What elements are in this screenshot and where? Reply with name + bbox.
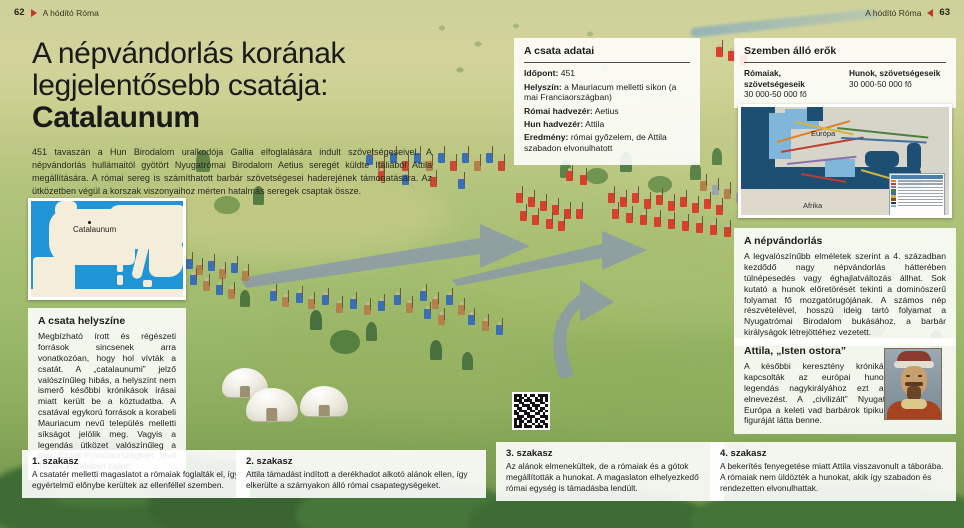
map-marker-catalaunum — [88, 221, 91, 224]
location-heading: A csata helyszíne — [38, 315, 176, 328]
phase-2: 2. szakasz Attila támadást indított a de… — [236, 450, 486, 498]
battle-data-panel: A csata adatai Időpont: 451 Helyszín: a … — [514, 38, 700, 165]
tree — [310, 310, 322, 330]
forces-side-value: 30 000-50 000 fő — [849, 79, 946, 89]
tree — [648, 176, 672, 193]
battle-data-value: 451 — [561, 68, 575, 78]
forces-side-hun: Hunok, szövetségeseik 30 000-50 000 fő — [849, 68, 946, 99]
phase-heading: 1. szakasz — [32, 456, 241, 467]
lede-paragraph: 451 tavaszán a Hun Birodalom uralkodója … — [32, 146, 432, 197]
map-baltic — [807, 107, 823, 121]
battle-data-value: Attila — [585, 119, 604, 129]
battle-data-row: Hun hadvezér: Attila — [524, 119, 690, 130]
map-land-africa — [31, 289, 186, 300]
page-number-right: 63 — [939, 7, 950, 18]
map-adriatic — [825, 159, 855, 177]
tree — [430, 340, 442, 360]
phase-1: 1. szakasz A csatatér melletti magaslato… — [22, 450, 250, 498]
page-number-left: 62 — [14, 7, 25, 18]
map-label-europe: Európa — [811, 129, 835, 138]
title-line-1: A népvándorlás korának — [32, 38, 502, 70]
phase-3: 3. szakasz Az alánok elmenekültek, de a … — [496, 442, 724, 501]
page-title: A népvándorlás korának legjelentősebb cs… — [32, 38, 502, 197]
map-caspian — [907, 143, 921, 171]
map-label-africa: Afrika — [803, 201, 822, 210]
catalaunum-inset-map: Catalaunum — [28, 198, 186, 300]
phase-text: Attila támadást indított a derékhadot al… — [246, 469, 477, 491]
runhead-left: 62 A hódító Róma — [14, 7, 99, 18]
chapter-title-left: A hódító Róma — [43, 8, 99, 18]
map-land-sicily — [143, 280, 152, 287]
map-land-balkans — [149, 241, 183, 277]
tree — [214, 196, 240, 214]
portrait-eye — [906, 375, 910, 377]
forces-panel: Szemben álló erők Rómaiak, szövetségesei… — [734, 38, 956, 108]
movement-arrow-curved — [540, 250, 650, 380]
battle-data-row: Időpont: 451 — [524, 68, 690, 79]
battle-data-row: Római hadvezér: Aetius — [524, 106, 690, 117]
map-legend — [889, 173, 945, 217]
map-legend-row — [891, 204, 943, 207]
battle-data-label: Hun hadvezér: — [524, 119, 583, 129]
map-land-sardinia — [117, 275, 123, 285]
forces-side-label: Rómaiak, szövetségeseik — [744, 68, 841, 89]
phase-text: A bekerítés fenyegetése miatt Attila vis… — [720, 461, 947, 494]
title-line-2: legjelentősebb csatája: — [32, 70, 502, 102]
tree — [240, 290, 250, 307]
runhead-right: A hódító Róma 63 — [865, 7, 950, 18]
migration-text: A legvalószínűbb elméletek szerint a 4. … — [744, 251, 946, 338]
tree — [330, 330, 360, 354]
phase-text: A csatatér melletti magaslatot a rómaiak… — [32, 469, 241, 491]
divider — [744, 62, 946, 63]
title-line-3: Catalaunum — [32, 102, 502, 134]
qr-code[interactable] — [512, 392, 550, 430]
portrait-eye — [918, 375, 922, 377]
forces-side-label: Hunok, szövetségeseik — [849, 68, 946, 78]
migration-heading: A népvándorlás — [744, 235, 946, 248]
map-label-catalaunum: Catalaunum — [73, 225, 116, 234]
triangle-right-icon — [31, 9, 37, 17]
battle-data-row: Helyszín: a Mauriacum melletti síkon (a … — [524, 82, 690, 104]
chapter-title-right: A hódító Róma — [865, 8, 921, 18]
phase-heading: 4. szakasz — [720, 448, 947, 459]
phase-heading: 3. szakasz — [506, 448, 715, 459]
battle-data-heading: A csata adatai — [524, 45, 690, 58]
migration-routes-map: Európa Afrika — [738, 104, 952, 218]
tree — [712, 148, 722, 165]
attila-portrait — [884, 348, 942, 420]
tree — [462, 352, 473, 370]
phase-4: 4. szakasz A bekerítés fenyegetése miatt… — [710, 442, 956, 501]
forces-side-roman: Rómaiak, szövetségeseik 30 000-50 000 fő — [744, 68, 841, 99]
tree — [586, 168, 608, 184]
forces-heading: Szemben álló erők — [744, 45, 946, 58]
triangle-left-icon — [927, 9, 933, 17]
battle-data-label: Helyszín: — [524, 82, 562, 92]
migration-panel: A népvándorlás A legvalószínűbb elmélete… — [734, 228, 956, 346]
attila-text: A későbbi keresztény krónikák kapcsolták… — [744, 361, 888, 426]
portrait-collar — [901, 399, 927, 409]
phase-text: Az alánok elmenekültek, de a rómaiak és … — [506, 461, 715, 494]
book-spread: 62 A hódító Róma A hódító Róma 63 A népv… — [0, 0, 964, 528]
map-land-corsica — [117, 263, 123, 272]
tree — [366, 322, 377, 341]
battle-data-row: Eredmény: római győzelem, de Attila szab… — [524, 132, 690, 154]
map-black-sea — [865, 151, 899, 167]
phase-heading: 2. szakasz — [246, 456, 477, 467]
forces-side-value: 30 000-50 000 fő — [744, 89, 841, 99]
battle-data-label: Eredmény: — [524, 132, 568, 142]
battle-data-label: Római hadvezér: — [524, 106, 593, 116]
map-legend-header — [891, 175, 943, 179]
battle-data-value: Aetius — [595, 106, 619, 116]
battle-data-label: Időpont: — [524, 68, 558, 78]
divider — [524, 62, 690, 63]
